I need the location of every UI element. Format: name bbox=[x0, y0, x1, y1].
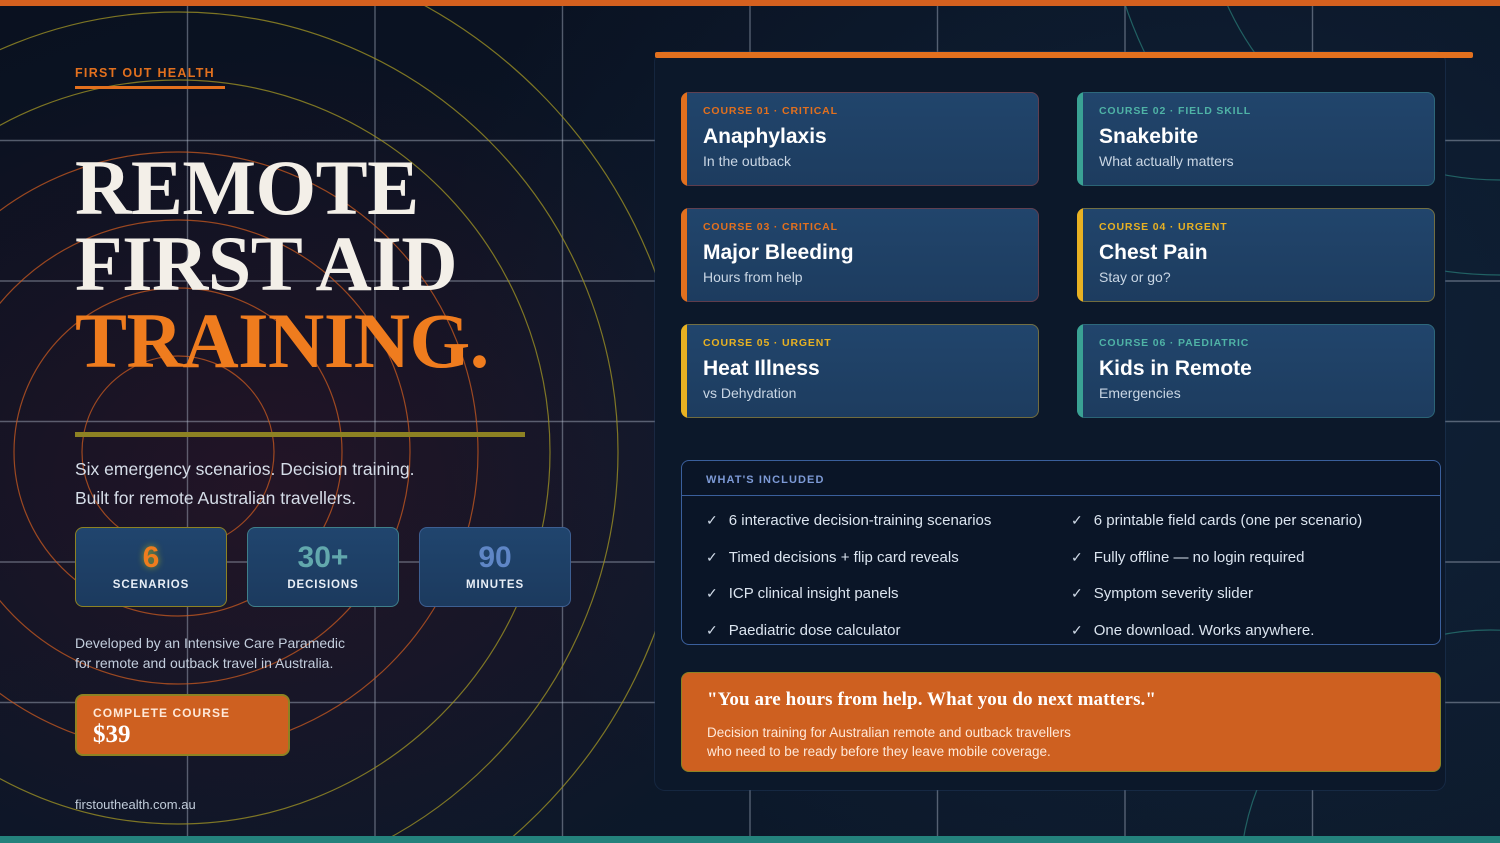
list-item-label: Symptom severity slider bbox=[1094, 585, 1253, 602]
stat-box-group: 6 SCENARIOS 30+ DECISIONS 90 MINUTES bbox=[75, 527, 571, 607]
whats-included-heading: WHAT'S INCLUDED bbox=[682, 461, 1440, 496]
courses-panel: COURSE 01 · CRITICAL Anaphylaxis In the … bbox=[655, 52, 1445, 790]
course-desc: Hours from help bbox=[703, 269, 1039, 285]
list-item-label: Fully offline — no login required bbox=[1094, 549, 1305, 566]
price-badge[interactable]: COMPLETE COURSE $39 bbox=[75, 694, 290, 756]
list-item: ✓ One download. Works anywhere. bbox=[1071, 622, 1420, 640]
course-meta: COURSE 01 · CRITICAL bbox=[703, 105, 1039, 117]
course-desc: In the outback bbox=[703, 153, 1039, 169]
course-desc: Emergencies bbox=[1099, 385, 1435, 401]
check-icon: ✓ bbox=[706, 585, 718, 603]
course-meta: COURSE 06 · PAEDIATRIC bbox=[1099, 337, 1435, 349]
author-credit-line-2: for remote and outback travel in Austral… bbox=[75, 654, 475, 674]
author-credit-line-1: Developed by an Intensive Care Paramedic bbox=[75, 634, 475, 654]
list-item: ✓ ICP clinical insight panels bbox=[706, 585, 1055, 603]
check-icon: ✓ bbox=[706, 549, 718, 567]
course-meta: COURSE 02 · FIELD SKILL bbox=[1099, 105, 1435, 117]
course-title: Anaphylaxis bbox=[703, 126, 1039, 148]
course-meta: COURSE 05 · URGENT bbox=[703, 337, 1039, 349]
list-item: ✓ Symptom severity slider bbox=[1071, 585, 1420, 603]
page-title: REMOTE FIRST AID TRAINING. bbox=[75, 150, 635, 379]
course-card-grid: COURSE 01 · CRITICAL Anaphylaxis In the … bbox=[681, 92, 1441, 418]
list-item: ✓ 6 printable field cards (one per scena… bbox=[1071, 512, 1420, 530]
price-label: COMPLETE COURSE bbox=[93, 706, 272, 720]
list-item-label: One download. Works anywhere. bbox=[1094, 622, 1315, 639]
stat-box-decisions: 30+ DECISIONS bbox=[247, 527, 399, 607]
stat-label: MINUTES bbox=[466, 579, 524, 591]
hero-column: FIRST OUT HEALTH REMOTE FIRST AID TRAINI… bbox=[75, 0, 635, 843]
course-card[interactable]: COURSE 02 · FIELD SKILL Snakebite What a… bbox=[1077, 92, 1435, 186]
quote-subtext-line-2: who need to be ready before they leave m… bbox=[707, 742, 1440, 761]
stat-value: 6 bbox=[143, 543, 160, 573]
website-url[interactable]: firstouthealth.com.au bbox=[75, 797, 196, 812]
poster-canvas: FIRST OUT HEALTH REMOTE FIRST AID TRAINI… bbox=[0, 0, 1500, 843]
course-desc: What actually matters bbox=[1099, 153, 1435, 169]
course-card[interactable]: COURSE 03 · CRITICAL Major Bleeding Hour… bbox=[681, 208, 1039, 302]
check-icon: ✓ bbox=[706, 622, 718, 640]
price-value: $39 bbox=[93, 722, 272, 748]
author-credit: Developed by an Intensive Care Paramedic… bbox=[75, 634, 475, 674]
list-item: ✓ 6 interactive decision-training scenar… bbox=[706, 512, 1055, 530]
check-icon: ✓ bbox=[1071, 585, 1083, 603]
quote-subtext: Decision training for Australian remote … bbox=[707, 723, 1440, 761]
quote-text: "You are hours from help. What you do ne… bbox=[707, 689, 1440, 711]
whats-included-list: ✓ 6 interactive decision-training scenar… bbox=[682, 496, 1440, 639]
stat-value: 90 bbox=[478, 543, 511, 573]
course-title: Kids in Remote bbox=[1099, 358, 1435, 380]
list-item-label: Paediatric dose calculator bbox=[729, 622, 901, 639]
course-title: Heat Illness bbox=[703, 358, 1039, 380]
list-item: ✓ Paediatric dose calculator bbox=[706, 622, 1055, 640]
stat-label: DECISIONS bbox=[287, 579, 358, 591]
brand-kicker-rule bbox=[75, 86, 225, 89]
course-meta: COURSE 03 · CRITICAL bbox=[703, 221, 1039, 233]
stat-value: 30+ bbox=[298, 543, 349, 573]
course-card[interactable]: COURSE 04 · URGENT Chest Pain Stay or go… bbox=[1077, 208, 1435, 302]
course-desc: Stay or go? bbox=[1099, 269, 1435, 285]
headline-underline bbox=[75, 432, 525, 437]
whats-included-panel: WHAT'S INCLUDED ✓ 6 interactive decision… bbox=[681, 460, 1441, 645]
check-icon: ✓ bbox=[1071, 622, 1083, 640]
headline-line-3: TRAINING. bbox=[75, 303, 635, 379]
brand-kicker: FIRST OUT HEALTH bbox=[75, 66, 215, 80]
quote-banner: "You are hours from help. What you do ne… bbox=[681, 672, 1441, 772]
stat-box-minutes: 90 MINUTES bbox=[419, 527, 571, 607]
course-desc: vs Dehydration bbox=[703, 385, 1039, 401]
course-card[interactable]: COURSE 06 · PAEDIATRIC Kids in Remote Em… bbox=[1077, 324, 1435, 418]
check-icon: ✓ bbox=[1071, 512, 1083, 530]
hero-subtitle: Six emergency scenarios. Decision traini… bbox=[75, 455, 545, 512]
course-title: Snakebite bbox=[1099, 126, 1435, 148]
headline-line-1: REMOTE bbox=[75, 144, 419, 231]
hero-subtitle-line-2: Built for remote Australian travellers. bbox=[75, 484, 545, 513]
list-item-label: ICP clinical insight panels bbox=[729, 585, 899, 602]
panel-top-accent-bar bbox=[655, 52, 1473, 58]
list-item-label: 6 printable field cards (one per scenari… bbox=[1094, 512, 1362, 529]
stat-label: SCENARIOS bbox=[113, 579, 189, 591]
quote-subtext-line-1: Decision training for Australian remote … bbox=[707, 723, 1440, 742]
list-item-label: 6 interactive decision-training scenario… bbox=[729, 512, 992, 529]
list-item: ✓ Timed decisions + flip card reveals bbox=[706, 549, 1055, 567]
course-card[interactable]: COURSE 05 · URGENT Heat Illness vs Dehyd… bbox=[681, 324, 1039, 418]
list-item: ✓ Fully offline — no login required bbox=[1071, 549, 1420, 567]
list-item-label: Timed decisions + flip card reveals bbox=[729, 549, 959, 566]
course-meta: COURSE 04 · URGENT bbox=[1099, 221, 1435, 233]
stat-box-scenarios: 6 SCENARIOS bbox=[75, 527, 227, 607]
check-icon: ✓ bbox=[1071, 549, 1083, 567]
course-title: Major Bleeding bbox=[703, 242, 1039, 264]
course-card[interactable]: COURSE 01 · CRITICAL Anaphylaxis In the … bbox=[681, 92, 1039, 186]
course-title: Chest Pain bbox=[1099, 242, 1435, 264]
hero-subtitle-line-1: Six emergency scenarios. Decision traini… bbox=[75, 455, 545, 484]
check-icon: ✓ bbox=[706, 512, 718, 530]
headline-line-2: FIRST AID bbox=[75, 220, 457, 307]
